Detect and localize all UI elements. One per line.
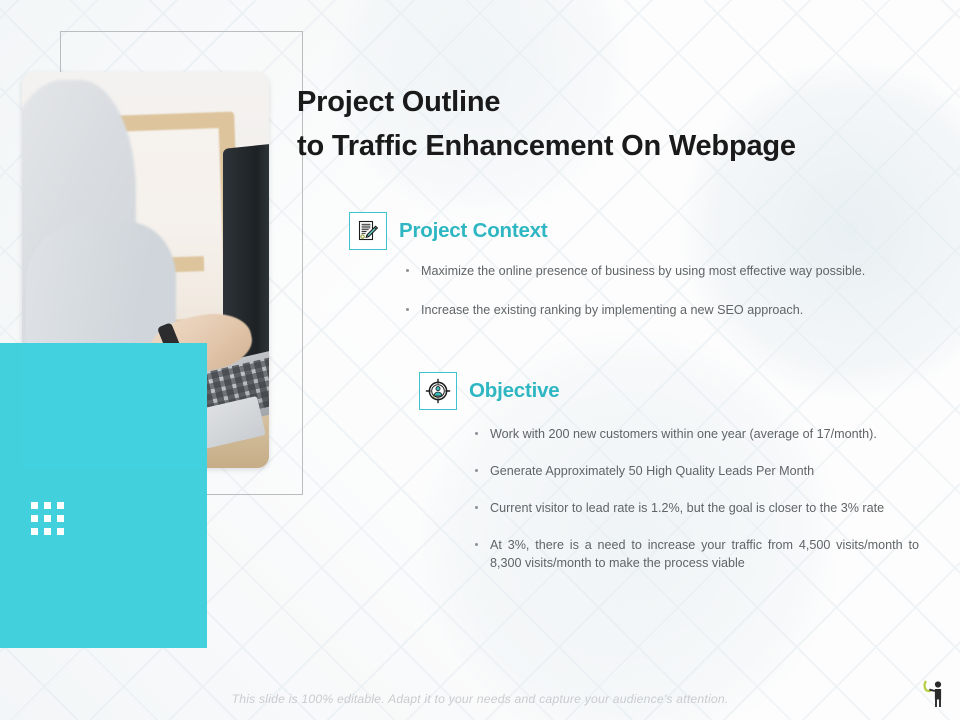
bullet-list: Maximize the online presence of business… [404, 263, 909, 320]
page-title-line-1: Project Outline [297, 80, 897, 124]
section-header: Objective [419, 372, 919, 410]
presenter-figure-icon [916, 672, 950, 712]
bullet-list: Work with 200 new customers within one y… [473, 426, 919, 572]
list-item: Work with 200 new customers within one y… [473, 426, 919, 444]
list-item: Generate Approximately 50 High Quality L… [473, 463, 919, 481]
footer-note: This slide is 100% editable. Adapt it to… [0, 692, 960, 706]
dot-grid-decoration [31, 502, 64, 535]
list-item: At 3%, there is a need to increase your … [473, 537, 919, 573]
teal-photo-overlay [22, 343, 207, 468]
target-person-icon [419, 372, 457, 410]
document-pen-icon [349, 212, 387, 250]
page-title: Project Outline to Traffic Enhancement O… [297, 80, 897, 168]
section-project-context: Project Context Maximize the online pres… [349, 212, 909, 341]
section-title: Project Context [399, 219, 548, 243]
section-objective: Objective Work with 200 new customers wi… [419, 372, 919, 591]
page-title-line-2: to Traffic Enhancement On Webpage [297, 124, 897, 168]
slide-canvas: Project Outline to Traffic Enhancement O… [0, 0, 960, 720]
list-item: Current visitor to lead rate is 1.2%, bu… [473, 500, 919, 518]
list-item: Increase the existing ranking by impleme… [404, 302, 909, 320]
list-item: Maximize the online presence of business… [404, 263, 909, 281]
section-header: Project Context [349, 212, 909, 250]
section-title: Objective [469, 379, 560, 403]
